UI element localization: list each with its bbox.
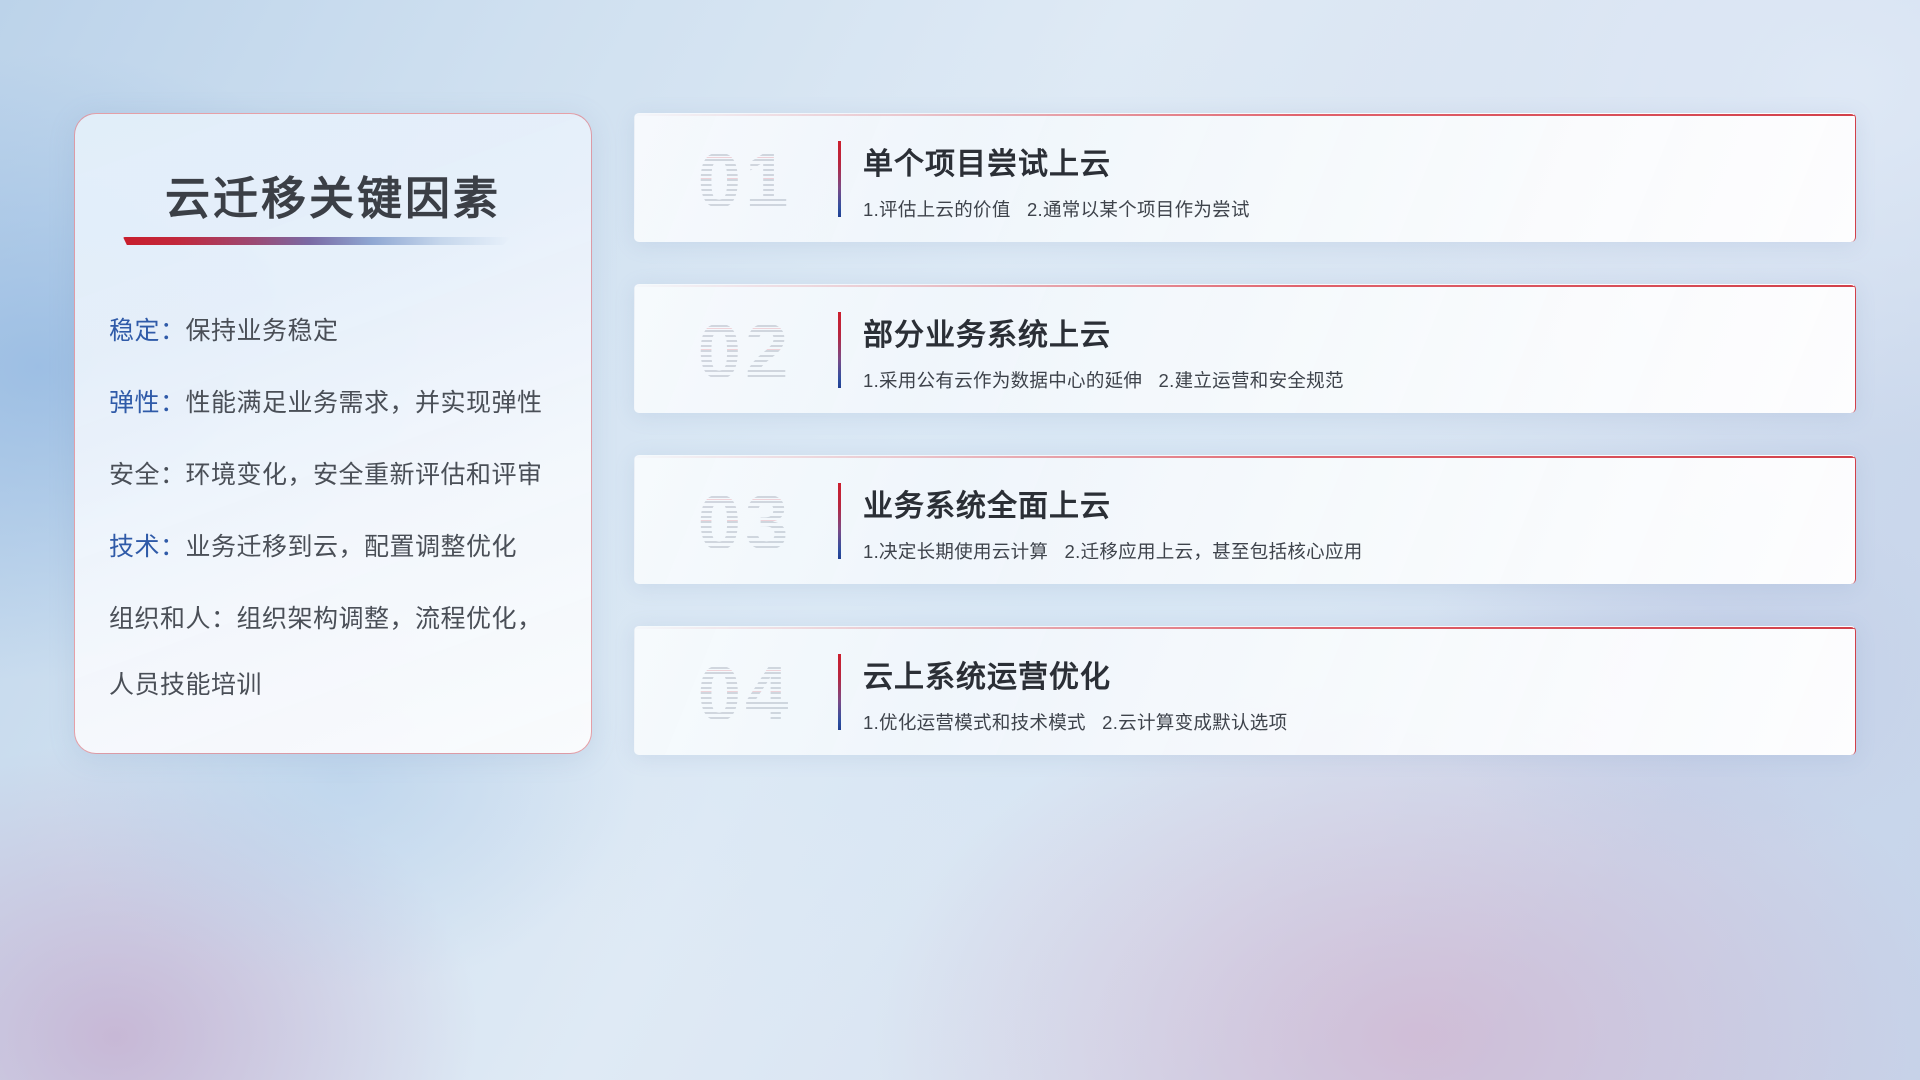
stage-card-02[interactable]: 02 02 部分业务系统上云 1.采用公有云作为数据中心的延伸 2.建立运营和安… <box>634 284 1856 413</box>
stage-number-tint: 01 <box>670 134 820 226</box>
stage-title: 部分业务系统上云 <box>863 310 1111 354</box>
key-factor-item: 安全：环境变化，安全重新评估和评审 <box>109 463 569 488</box>
key-factor-text: 环境变化，安全重新评估和评审 <box>186 461 543 489</box>
stage-number-tint: 04 <box>670 647 820 739</box>
key-factor-text: 人员技能培训 <box>109 671 262 699</box>
key-factor-item: 组织和人：组织架构调整，流程优化， <box>109 607 569 632</box>
stage-number-tint: 03 <box>670 476 820 568</box>
key-factors-panel: 云迁移关键因素 稳定：保持业务稳定 弹性：性能满足业务需求，并实现弹性 安全：环… <box>74 113 592 754</box>
key-factor-label: 安全： <box>109 461 186 489</box>
stage-title: 单个项目尝试上云 <box>863 139 1111 183</box>
stage-card-01[interactable]: 01 01 单个项目尝试上云 1.评估上云的价值 2.通常以某个项目作为尝试 <box>634 113 1856 242</box>
key-factor-text: 性能满足业务需求，并实现弹性 <box>186 389 543 417</box>
stage-divider-bar <box>838 141 841 217</box>
stage-divider-bar <box>838 654 841 730</box>
title-underline-gradient <box>123 237 511 245</box>
key-factor-item-continued: 人员技能培训 <box>109 673 569 698</box>
key-factor-label: 技术： <box>109 533 186 561</box>
stage-card-03[interactable]: 03 03 业务系统全面上云 1.决定长期使用云计算 2.迁移应用上云，甚至包括… <box>634 455 1856 584</box>
key-factor-item: 稳定：保持业务稳定 <box>109 319 569 344</box>
stage-title: 业务系统全面上云 <box>863 481 1111 525</box>
stage-subtitle: 1.优化运营模式和技术模式 2.云计算变成默认选项 <box>863 709 1287 735</box>
key-factor-label: 组织和人： <box>109 605 237 633</box>
key-factor-item: 技术：业务迁移到云，配置调整优化 <box>109 535 569 560</box>
key-factor-label: 稳定： <box>109 317 186 345</box>
stage-title: 云上系统运营优化 <box>863 652 1111 696</box>
key-factor-text: 组织架构调整，流程优化， <box>237 605 543 633</box>
stage-card-04[interactable]: 04 04 云上系统运营优化 1.优化运营模式和技术模式 2.云计算变成默认选项 <box>634 626 1856 755</box>
stage-divider-bar <box>838 483 841 559</box>
key-factor-label: 弹性： <box>109 389 186 417</box>
page-title: 云迁移关键因素 <box>75 162 591 227</box>
stage-subtitle: 1.评估上云的价值 2.通常以某个项目作为尝试 <box>863 196 1250 222</box>
stage-card-list: 01 01 单个项目尝试上云 1.评估上云的价值 2.通常以某个项目作为尝试 0… <box>634 113 1856 755</box>
stage-divider-bar <box>838 312 841 388</box>
stage-subtitle: 1.采用公有云作为数据中心的延伸 2.建立运营和安全规范 <box>863 367 1344 393</box>
stage-subtitle: 1.决定长期使用云计算 2.迁移应用上云，甚至包括核心应用 <box>863 538 1363 564</box>
key-factor-text: 保持业务稳定 <box>186 317 339 345</box>
key-factors-list: 稳定：保持业务稳定 弹性：性能满足业务需求，并实现弹性 安全：环境变化，安全重新… <box>109 319 569 698</box>
key-factor-text: 业务迁移到云，配置调整优化 <box>186 533 518 561</box>
stage-number-tint: 02 <box>670 305 820 397</box>
key-factor-item: 弹性：性能满足业务需求，并实现弹性 <box>109 391 569 416</box>
